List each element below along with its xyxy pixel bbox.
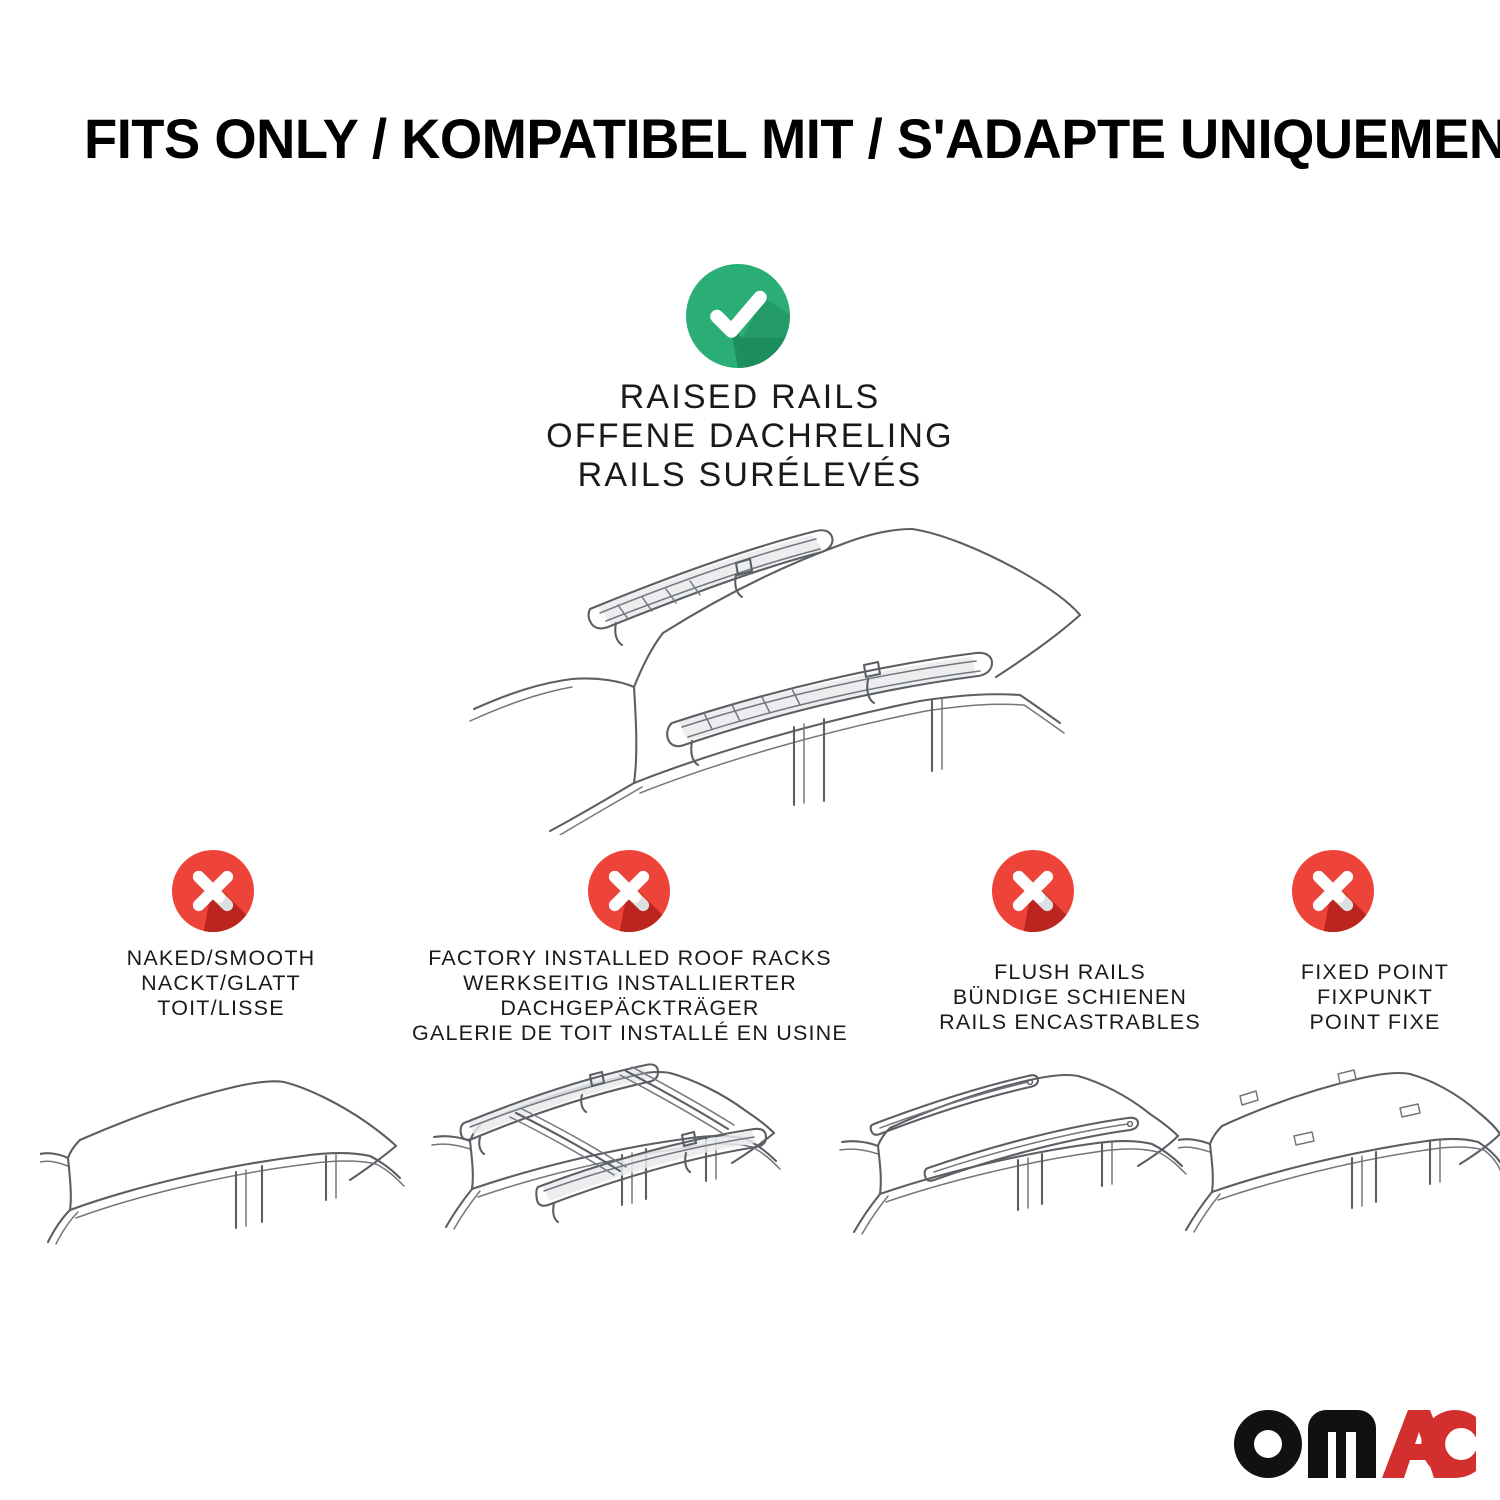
cross-circle-icon <box>992 850 1074 932</box>
car-roof-raised-rails-illustration <box>420 505 1100 835</box>
page-title: FITS ONLY / KOMPATIBEL MIT / S'ADAPTE UN… <box>84 108 1384 170</box>
cross-circle-icon <box>588 850 670 932</box>
incompatible-caption-3: FLUSH RAILS BÜNDIGE SCHIENEN RAILS ENCAS… <box>860 960 1280 1035</box>
car-roof-fixed-point-illustration <box>1178 1058 1500 1290</box>
cross-circle-icon <box>1292 850 1374 932</box>
cross-circle-icon <box>172 850 254 932</box>
car-roof-flush-rails-illustration <box>832 1058 1212 1290</box>
check-circle-icon <box>686 264 790 368</box>
incompatible-caption-1: NAKED/SMOOTH NACKT/GLATT TOIT/LISSE <box>28 946 414 1021</box>
compatible-caption: RAISED RAILS OFFENE DACHRELING RAILS SUR… <box>380 378 1120 495</box>
car-roof-factory-rack-illustration <box>410 1055 800 1290</box>
omac-logo <box>1232 1408 1476 1480</box>
incompatible-caption-4: FIXED POINT FIXPUNKT POINT FIXE <box>1230 960 1500 1035</box>
incompatible-caption-2: FACTORY INSTALLED ROOF RACKS WERKSEITIG … <box>380 946 880 1046</box>
car-roof-naked-smooth-illustration <box>40 1060 410 1290</box>
fitment-guide-page: FITS ONLY / KOMPATIBEL MIT / S'ADAPTE UN… <box>0 0 1500 1500</box>
